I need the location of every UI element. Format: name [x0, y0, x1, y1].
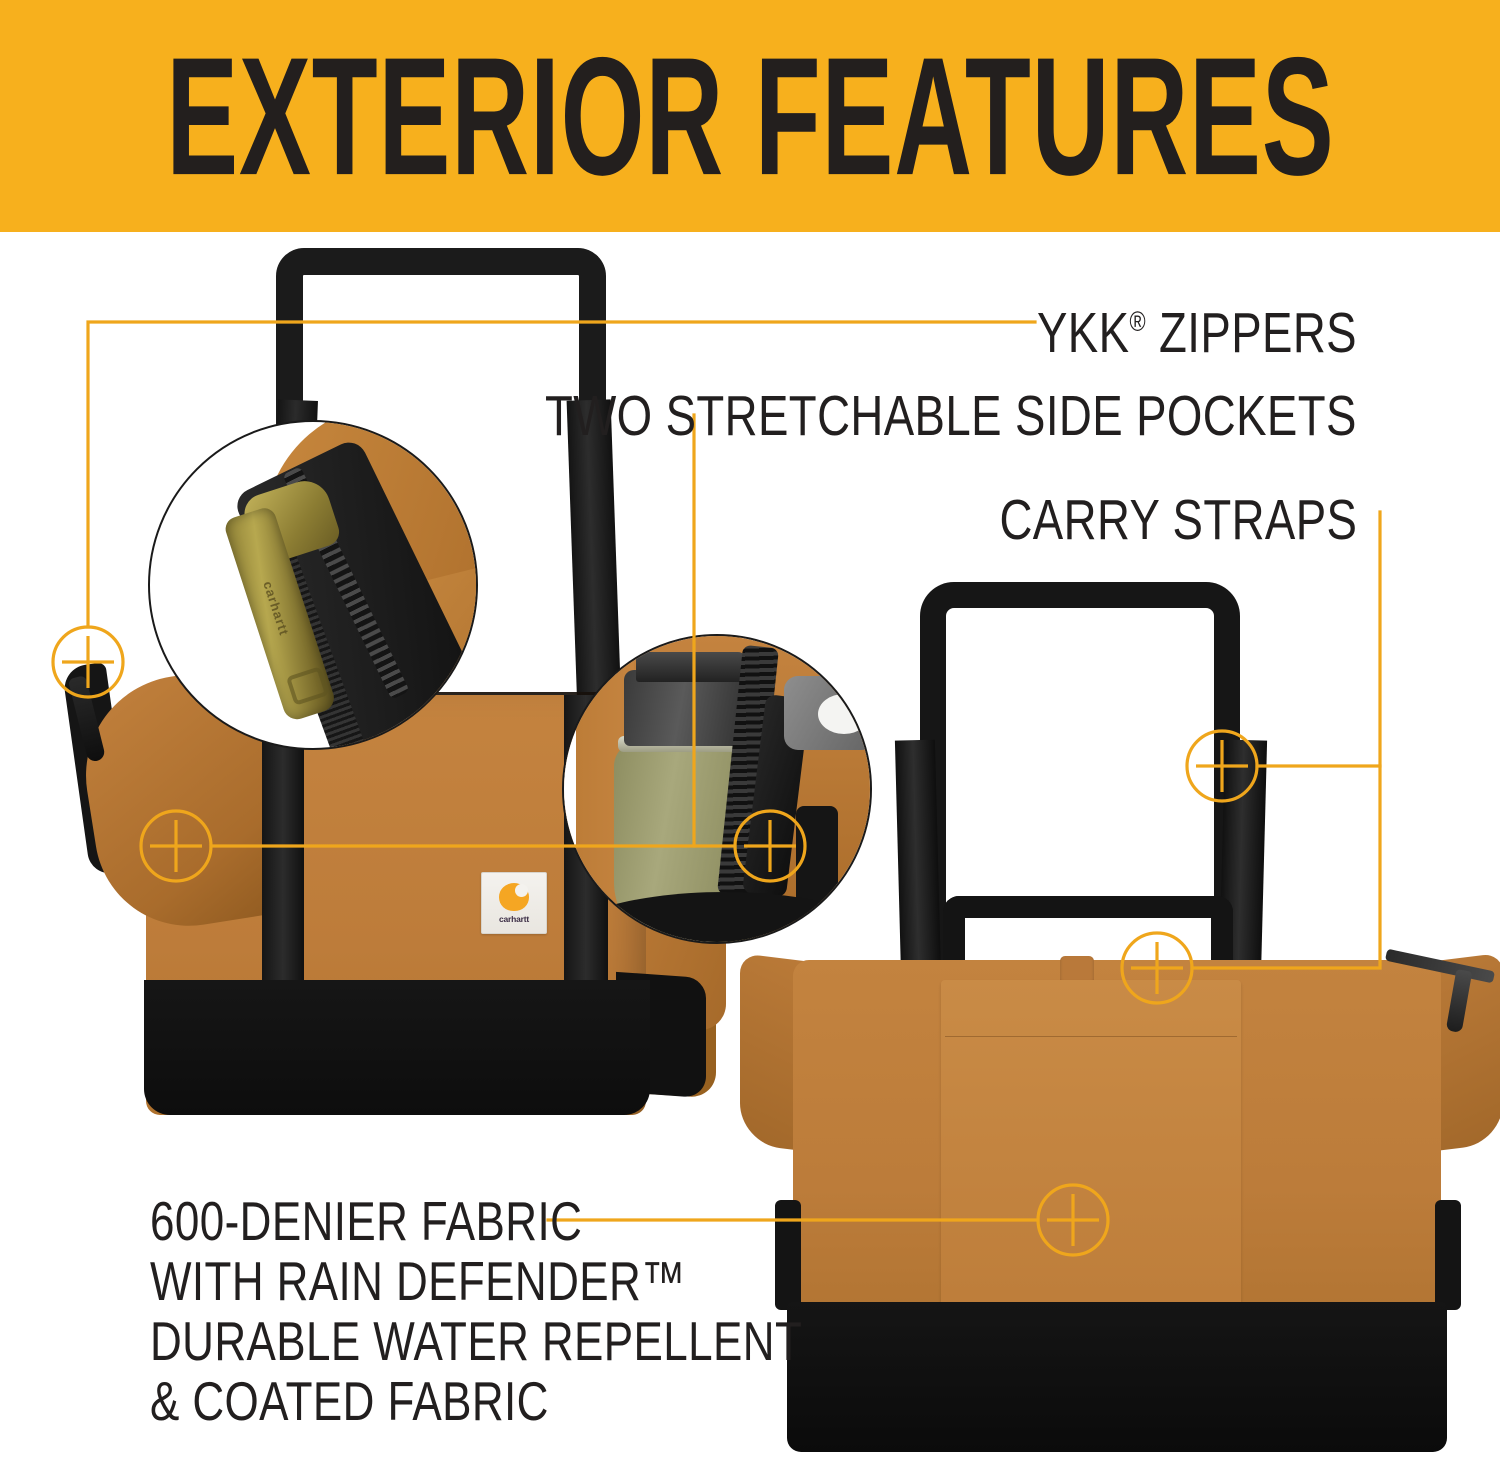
detail-circle-ykk-zipper: carhartt [148, 420, 478, 750]
carhartt-c-logo-icon [499, 883, 529, 911]
carhartt-wordmark: carhartt [499, 914, 529, 924]
bag-black-base-panel [144, 980, 650, 1115]
product-image-tote-front [745, 560, 1500, 1459]
bag-black-base-panel [787, 1302, 1447, 1452]
fabric-line-2: WITH RAIN DEFENDER™ [150, 1252, 802, 1312]
header-banner: EXTERIOR FEATURES [0, 0, 1500, 232]
infographic-page: EXTERIOR FEATURES carhartt carhartt [0, 0, 1500, 1459]
callout-label-ykk-zippers: YKK® ZIPPERS [1037, 300, 1357, 366]
fabric-line-4: & COATED FABRIC [150, 1372, 802, 1432]
front-pocket [941, 980, 1241, 1325]
water-bottle-cap-top [636, 652, 746, 682]
callout-label-fabric: 600-DENIER FABRIC WITH RAIN DEFENDER™ DU… [150, 1192, 802, 1432]
zoom-background-fill [562, 636, 576, 944]
registered-trademark-icon: ® [1129, 306, 1146, 337]
fabric-line-1: 600-DENIER FABRIC [150, 1192, 802, 1252]
front-pocket-seam [945, 1036, 1237, 1037]
callout-label-carry-straps: CARRY STRAPS [999, 487, 1357, 553]
side-tab-right [1435, 1200, 1461, 1310]
callout-label-side-pockets: TWO STRETCHABLE SIDE POCKETS [545, 383, 1357, 449]
fabric-line-3: DURABLE WATER REPELLENT [150, 1312, 802, 1372]
page-title: EXTERIOR FEATURES [166, 47, 1334, 185]
carhartt-brand-label: carhartt [481, 872, 547, 934]
